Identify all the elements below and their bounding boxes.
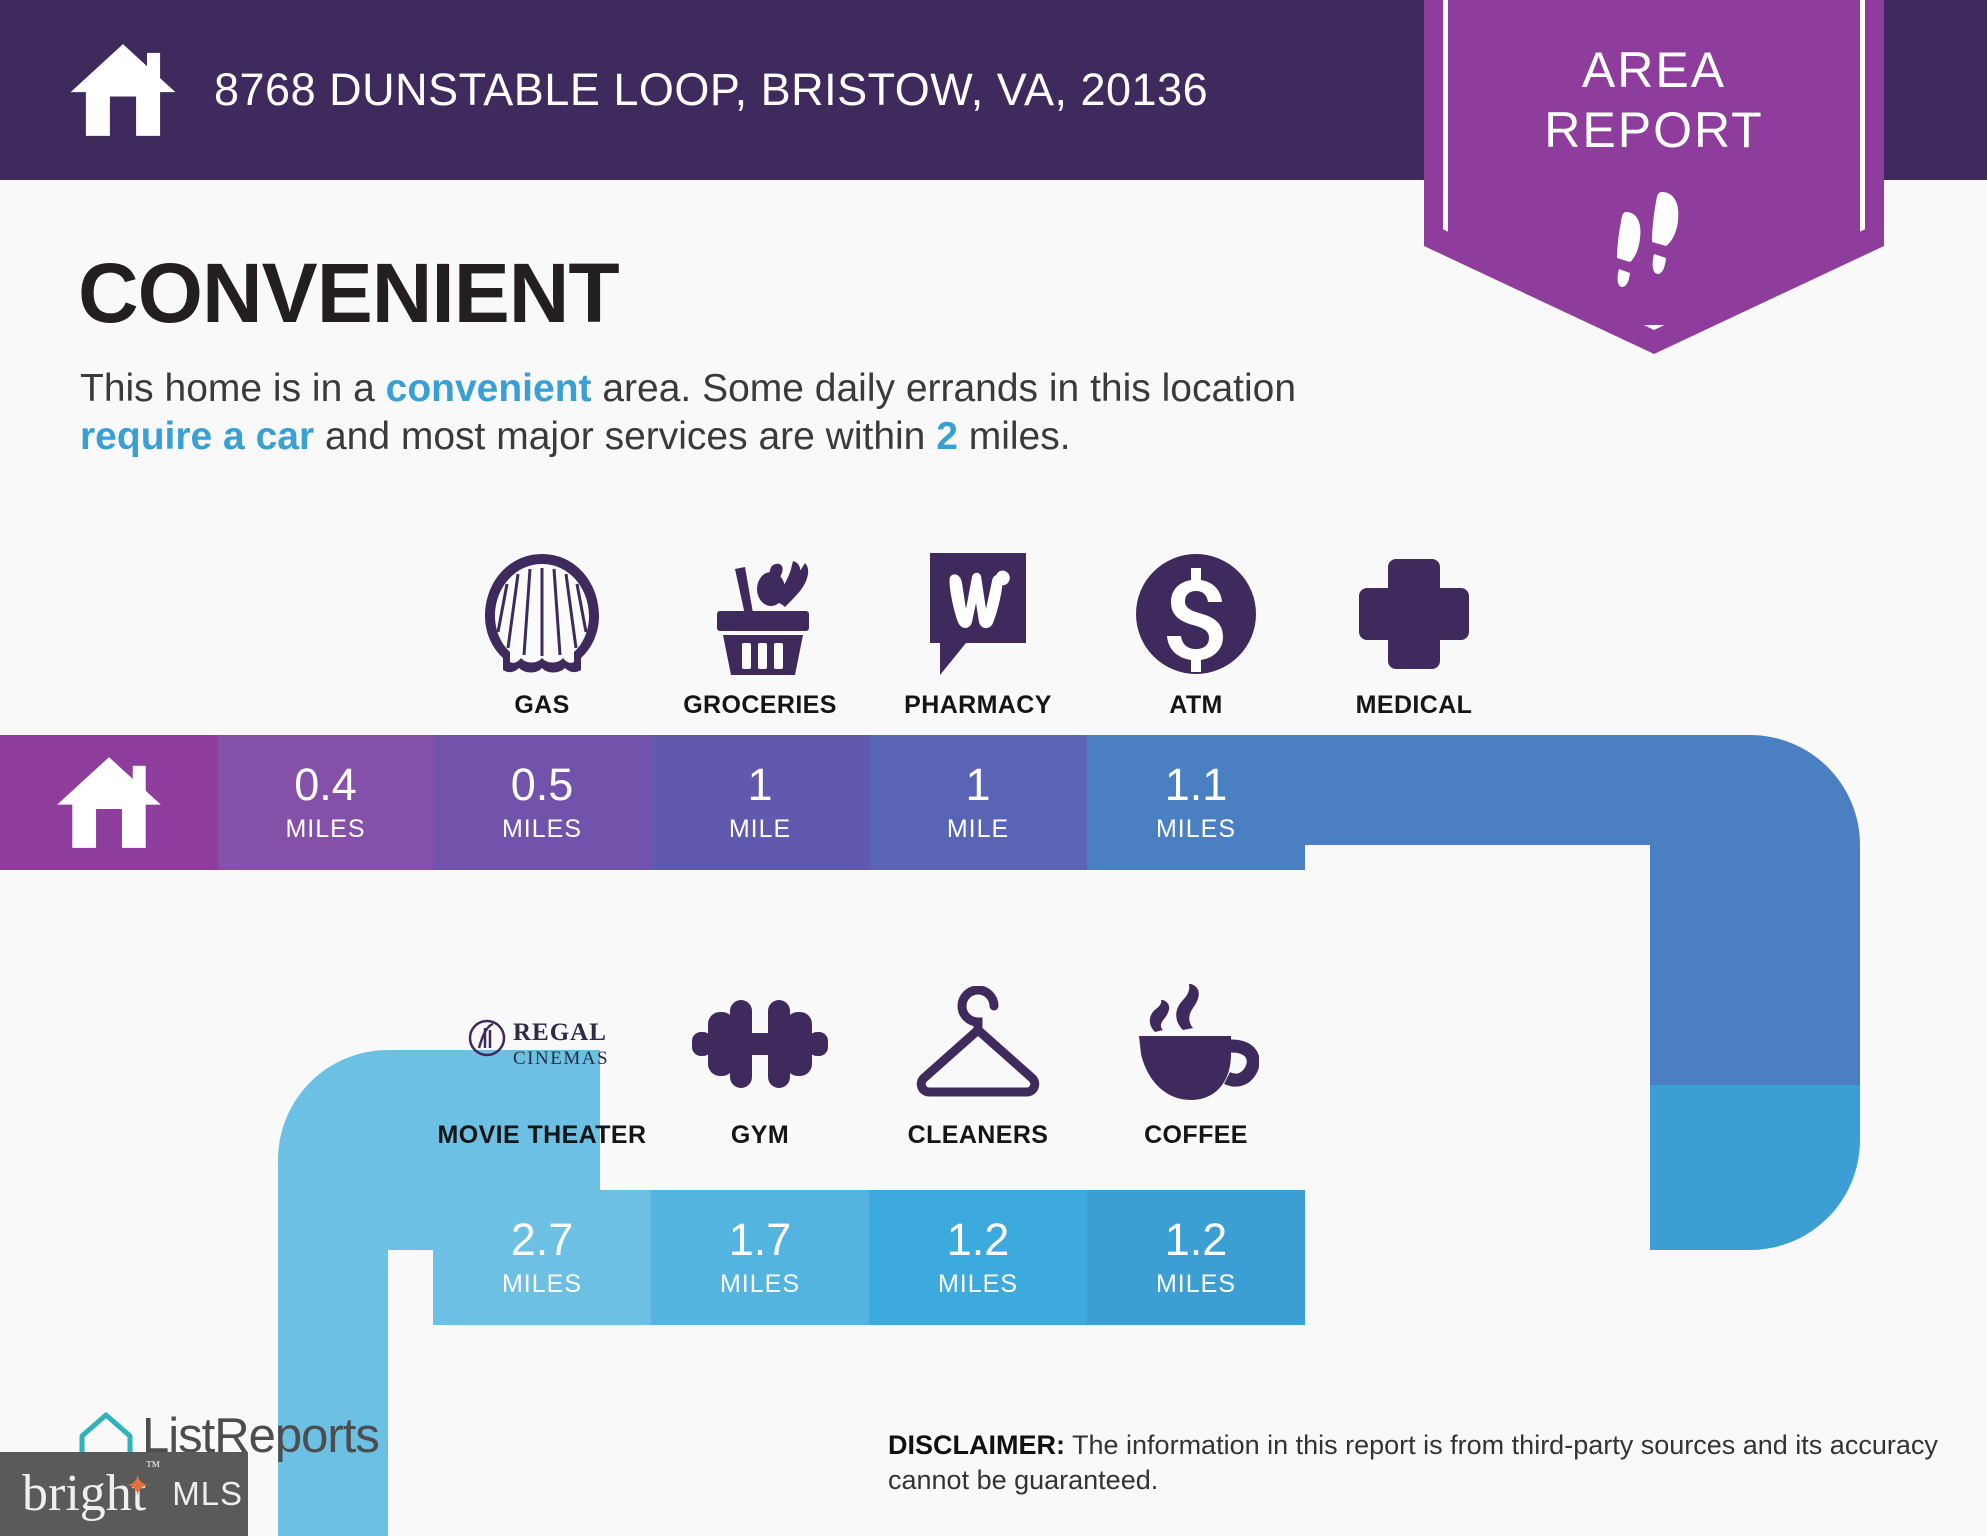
desc-part-1: This home is in a <box>80 367 386 410</box>
shell-gas-icon <box>467 549 617 679</box>
page-title: CONVENIENT <box>78 245 619 342</box>
category-label: MEDICAL <box>1356 691 1473 720</box>
medical-cross-icon <box>1339 549 1489 679</box>
category-label: GAS <box>514 691 569 720</box>
distance-unit: MILE <box>729 815 791 844</box>
distance-value: 0.5 <box>511 762 574 807</box>
distance-cell-movie-theater: 2.7 MILES <box>433 1190 651 1325</box>
distance-value: 2.7 <box>511 1217 574 1262</box>
home-origin-cell <box>0 735 218 870</box>
category-gas: GAS <box>433 525 651 720</box>
distance-value: 1 <box>965 762 990 807</box>
desc-part-3: and most major services are within <box>314 415 936 458</box>
distance-unit: MILES <box>938 1270 1018 1299</box>
grocery-basket-icon <box>685 549 835 679</box>
category-atm: ATM <box>1087 525 1305 720</box>
summary-description: This home is in a convenient area. Some … <box>80 365 1340 460</box>
category-label: COFFEE <box>1144 1121 1248 1150</box>
distance-bar-row-1: 0.4 MILES 0.5 MILES 1 MILE 1 MILE 1.1 MI… <box>0 735 1305 870</box>
hanger-icon <box>903 979 1053 1109</box>
category-icon-row-1: GAS GROCERIES <box>0 525 1987 720</box>
distance-cell-pharmacy: 1 MILE <box>651 735 869 870</box>
distance-unit: MILES <box>502 815 582 844</box>
distance-cell-atm: 1 MILE <box>869 735 1087 870</box>
distance-cell-gym: 1.7 MILES <box>651 1190 869 1325</box>
distance-cell-groceries: 0.5 MILES <box>433 735 651 870</box>
category-label: GROCERIES <box>683 691 837 720</box>
category-label: GYM <box>731 1121 789 1150</box>
category-label: ATM <box>1169 691 1223 720</box>
distance-unit: MILES <box>1156 1270 1236 1299</box>
desc-part-4: miles. <box>958 415 1071 458</box>
header-bar: 8768 DUNSTABLE LOOP, BRISTOW, VA, 20136 <box>0 0 1408 180</box>
category-movie-theater: REGAL CINEMAS MOVIE THEATER <box>433 955 651 1150</box>
distance-unit: MILES <box>285 815 365 844</box>
category-pharmacy: PHARMACY <box>869 525 1087 720</box>
category-label: MOVIE THEATER <box>438 1121 647 1150</box>
distance-cell-cleaners: 1.2 MILES <box>869 1190 1087 1325</box>
category-icon-row-2: REGAL CINEMAS MOVIE THEATER GYM <box>0 955 1987 1150</box>
walgreens-w-icon <box>903 549 1053 679</box>
footprints-icon <box>1600 190 1710 290</box>
distance-value: 1.7 <box>729 1217 792 1262</box>
dollar-circle-icon <box>1121 549 1271 679</box>
distance-cell-medical: 1.1 MILES <box>1087 735 1305 870</box>
desc-highlight-require-car: require a car <box>80 415 314 458</box>
disclaimer-label: DISCLAIMER: <box>888 1430 1065 1460</box>
category-coffee: COFFEE <box>1087 955 1305 1150</box>
coffee-cup-icon <box>1121 979 1271 1109</box>
distance-value: 1.2 <box>947 1217 1010 1262</box>
home-icon <box>54 755 164 850</box>
bright-star-icon: ✦ <box>125 1472 150 1502</box>
distance-bar-row-2: 2.7 MILES 1.7 MILES 1.2 MILES 1.2 MILES <box>433 1190 1305 1325</box>
bright-trademark: ™ <box>146 1460 161 1475</box>
distance-cell-coffee: 1.2 MILES <box>1087 1190 1305 1325</box>
distance-value: 1.1 <box>1165 762 1228 807</box>
dumbbell-icon <box>685 979 835 1109</box>
badge-title-line2: REPORT <box>1424 104 1884 157</box>
distance-cell-gas: 0.4 MILES <box>218 735 433 870</box>
distance-unit: MILES <box>502 1270 582 1299</box>
category-label: PHARMACY <box>904 691 1052 720</box>
category-groceries: GROCERIES <box>651 525 869 720</box>
desc-highlight-convenient: convenient <box>386 367 592 410</box>
svg-text:CINEMAS: CINEMAS <box>513 1048 609 1069</box>
category-label: CLEANERS <box>908 1121 1049 1150</box>
distance-value: 1.2 <box>1165 1217 1228 1262</box>
desc-part-2: area. Some daily errands in this locatio… <box>592 367 1297 410</box>
category-gym: GYM <box>651 955 869 1150</box>
bright-wordmark: bright ✦ ™ <box>22 1468 146 1520</box>
mls-text: MLS <box>172 1475 243 1513</box>
distance-unit: MILE <box>947 815 1009 844</box>
distance-unit: MILES <box>1156 815 1236 844</box>
desc-highlight-miles: 2 <box>936 415 958 458</box>
distance-value: 0.4 <box>294 762 357 807</box>
svg-text:REGAL: REGAL <box>513 1019 607 1046</box>
bright-mls-logo: bright ✦ ™ MLS <box>0 1452 248 1536</box>
category-medical: MEDICAL <box>1305 525 1523 720</box>
category-cleaners: CLEANERS <box>869 955 1087 1150</box>
property-address: 8768 DUNSTABLE LOOP, BRISTOW, VA, 20136 <box>214 64 1208 116</box>
disclaimer: DISCLAIMER: The information in this repo… <box>888 1428 1948 1497</box>
regal-cinemas-icon: REGAL CINEMAS <box>467 979 617 1109</box>
distance-value: 1 <box>747 762 772 807</box>
home-icon <box>68 42 178 138</box>
badge-title-line1: AREA <box>1424 44 1884 97</box>
distance-unit: MILES <box>720 1270 800 1299</box>
